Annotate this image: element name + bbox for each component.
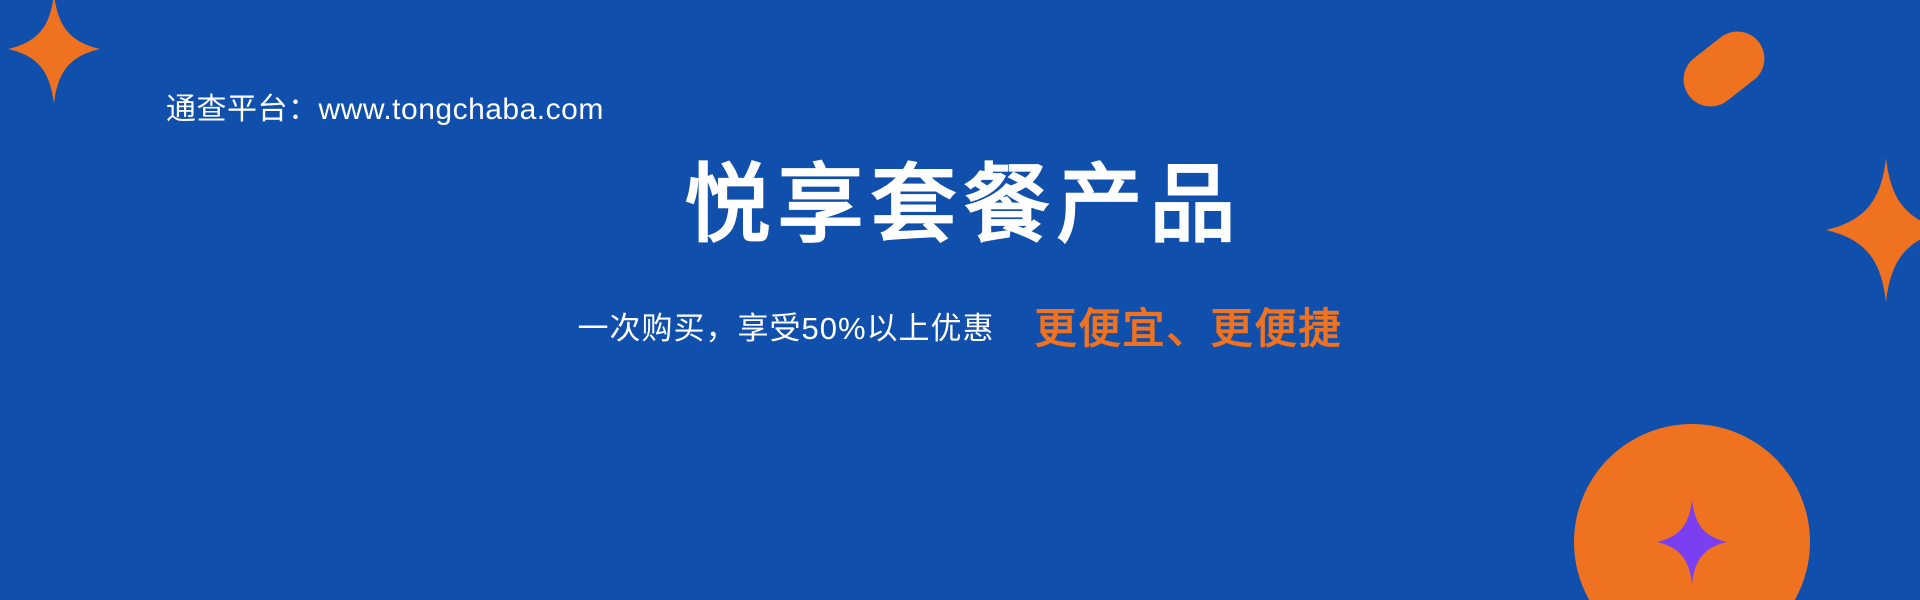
site-url-line: 通查平台：www.tongchaba.com <box>166 84 604 128</box>
site-label: 通查平台： <box>166 93 319 126</box>
sparkle-star-purple-icon <box>1657 499 1727 585</box>
subtitle-highlight: 更便宜、更便捷 <box>1035 305 1343 352</box>
site-url: www.tongchaba.com <box>319 93 604 126</box>
promo-banner: 通查平台：www.tongchaba.com 悦享套餐产品 一次购买，享受50%… <box>0 0 1920 600</box>
page-title: 悦享套餐产品 <box>0 160 1920 250</box>
capsule-shape-icon <box>1673 21 1776 118</box>
sparkle-star-icon <box>8 0 100 104</box>
circle-shape-icon <box>1574 424 1810 600</box>
subtitle-line: 一次购买，享受50%以上优惠更便宜、更便捷 <box>0 295 1920 356</box>
subtitle-primary: 一次购买，享受50%以上优惠 <box>577 311 994 346</box>
